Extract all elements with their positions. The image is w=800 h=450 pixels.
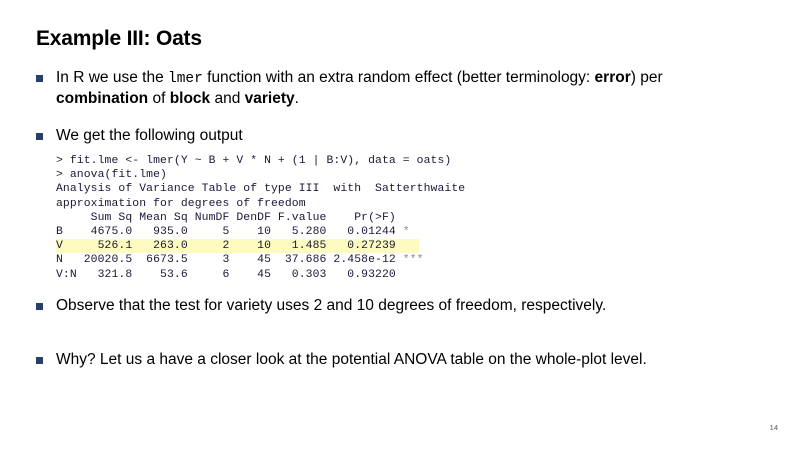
bullet-square-icon: [36, 303, 43, 310]
text-run: We get the following output: [56, 127, 243, 144]
bold-term: block: [170, 90, 210, 107]
code-line: V:N 321.8 53.6 6 45 0.303 0.93220: [56, 268, 465, 282]
bullet-item-1: In R we use the lmer function with an ex…: [36, 68, 758, 110]
page-title: Example III: Oats: [36, 26, 202, 51]
significance-stars: ***: [403, 254, 424, 266]
bullet-item-2-text: We get the following output: [56, 126, 758, 147]
code-line: B 4675.0 935.0 5 10 5.280 0.01244 *: [56, 225, 465, 239]
bullet-square-icon: [36, 133, 43, 140]
bullet-item-1-text: In R we use the lmer function with an ex…: [56, 68, 758, 110]
text-run: .: [295, 90, 299, 107]
bullet-item-2: We get the following output: [36, 126, 758, 147]
code-line: Analysis of Variance Table of type III w…: [56, 182, 465, 196]
code-line: approximation for degrees of freedom: [56, 197, 465, 211]
text-run: ) per: [631, 69, 663, 86]
bullet-square-icon: [36, 357, 43, 364]
significance-stars: *: [403, 226, 410, 238]
bullet-square-icon: [36, 75, 43, 82]
bold-term: error: [595, 69, 631, 86]
bold-term: variety: [245, 90, 295, 107]
code-line: > anova(fit.lme): [56, 168, 465, 182]
r-output-block: > fit.lme <- lmer(Y ~ B + V * N + (1 | B…: [56, 154, 465, 282]
page-number: 14: [770, 423, 778, 432]
bullet-item-3: Observe that the test for variety uses 2…: [36, 296, 758, 317]
text-run: function with an extra random effect (be…: [203, 69, 595, 86]
bullet-item-4-text: Why? Let us a have a closer look at the …: [56, 350, 758, 371]
code-line: > fit.lme <- lmer(Y ~ B + V * N + (1 | B…: [56, 154, 465, 168]
bullet-item-3-text: Observe that the test for variety uses 2…: [56, 296, 758, 317]
code-line: Sum Sq Mean Sq NumDF DenDF F.value Pr(>F…: [56, 211, 465, 225]
bullet-item-4: Why? Let us a have a closer look at the …: [36, 350, 758, 371]
slide-canvas: Example III: Oats In R we use the lmer f…: [0, 0, 800, 450]
text-run: Observe that the test for variety uses 2…: [56, 297, 606, 314]
bold-term: combination: [56, 90, 148, 107]
text-run: Why? Let us a have a closer look at the …: [56, 351, 647, 368]
text-run: In R we use the: [56, 69, 168, 86]
code-line: N 20020.5 6673.5 3 45 37.686 2.458e-12 *…: [56, 253, 465, 267]
text-run: and: [210, 90, 244, 107]
code-term: lmer: [168, 71, 203, 87]
text-run: of: [148, 90, 170, 107]
code-line-highlighted: V 526.1 263.0 2 10 1.485 0.27239: [56, 239, 419, 253]
